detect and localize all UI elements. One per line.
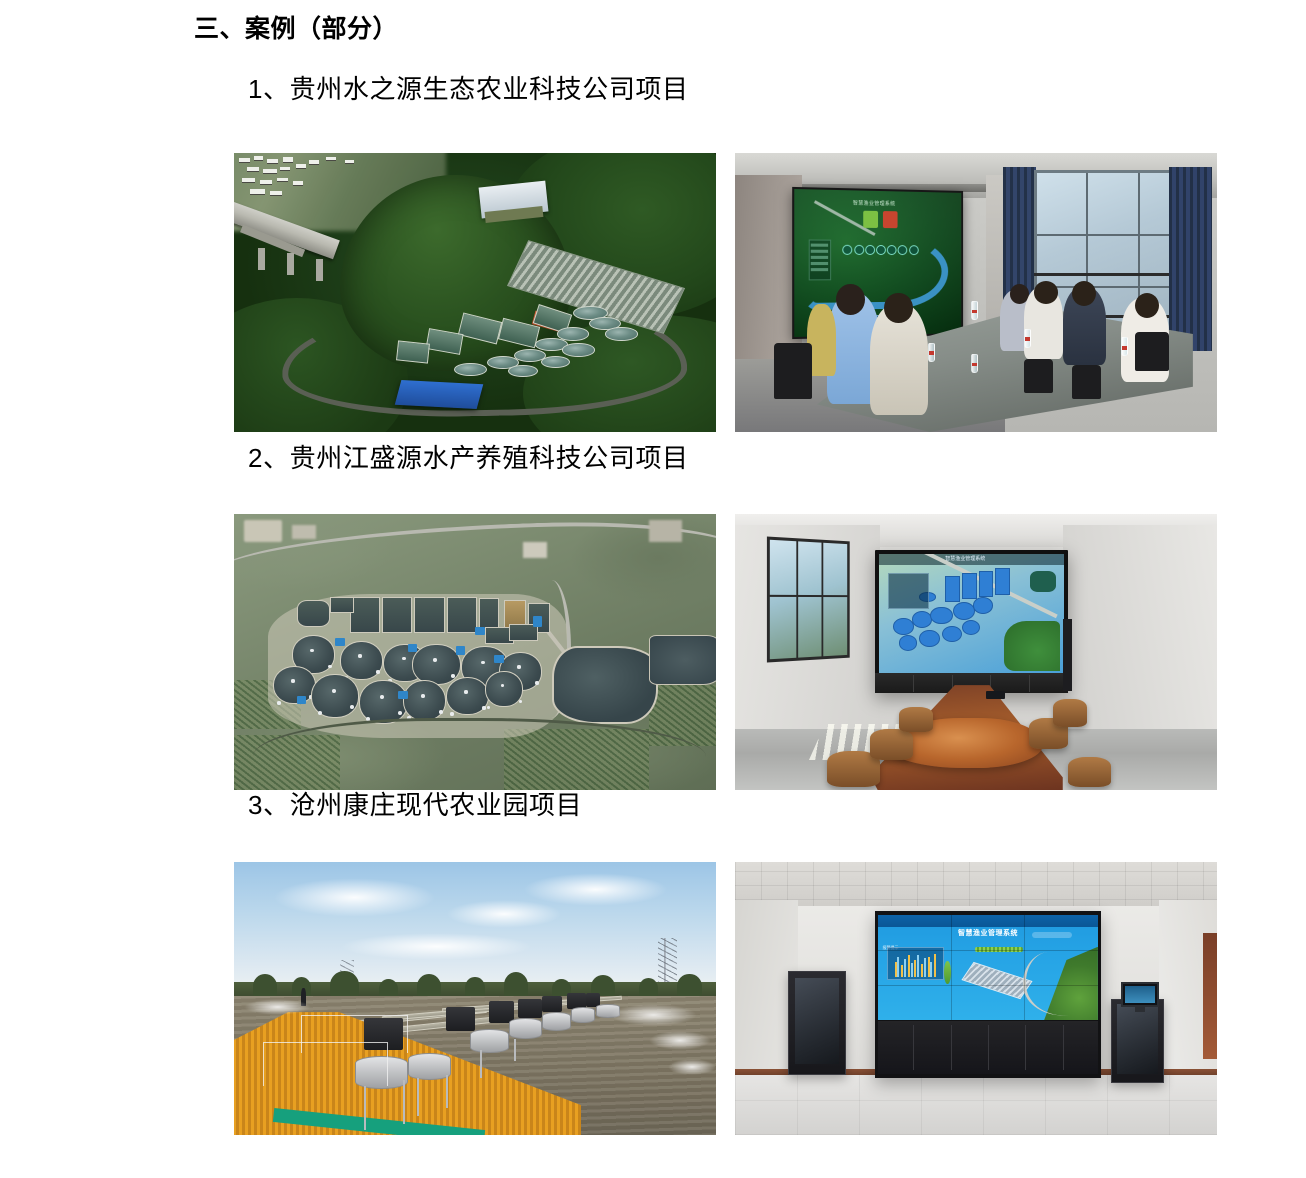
person-head xyxy=(1135,293,1159,318)
push-water-aerator xyxy=(470,1029,509,1054)
tree-stump-stool xyxy=(899,707,933,732)
aerator-control-box xyxy=(518,999,542,1018)
floor-tiles xyxy=(735,1075,1217,1135)
push-water-aerator xyxy=(509,1018,543,1040)
push-water-aerator xyxy=(542,1012,571,1031)
blue-roof-shed xyxy=(395,380,483,409)
case-3-photo-control-room-video-wall: 智慧渔业管理系统 报警提示 xyxy=(735,862,1217,1135)
video-wall-screen: 智慧渔业管理系统 报警提示 xyxy=(878,915,1098,1020)
case-heading-1: 1、贵州水之源生态农业科技公司项目 xyxy=(248,74,689,105)
person-head xyxy=(1034,281,1058,303)
server-rack-left xyxy=(788,971,846,1075)
screen-title-text: 智慧渔业管理系统 xyxy=(945,555,985,562)
video-wall-frame: 智慧渔业管理系统 报警提示 xyxy=(875,911,1102,1078)
operator-monitor xyxy=(1121,982,1160,1007)
case-heading-3: 3、沧州康庄现代农业园项目 xyxy=(248,790,582,821)
speaker-stand xyxy=(1063,619,1073,691)
tree-stump-stool xyxy=(870,729,913,759)
push-water-aerator xyxy=(408,1053,451,1080)
aerator-control-box xyxy=(446,1007,475,1032)
case-3-photo-pond-platform-aerators xyxy=(234,862,716,1135)
monitor-stand xyxy=(1135,1007,1145,1012)
aerator-control-box xyxy=(542,996,561,1012)
tree-stump-stool xyxy=(1068,757,1111,787)
case-heading-2: 2、贵州江盛源水产养殖科技公司项目 xyxy=(248,443,689,474)
person-head xyxy=(836,284,865,315)
remote-control xyxy=(986,691,1005,699)
reservoir-pond xyxy=(552,646,658,723)
video-wall-frame: 智慧渔业管理系统 xyxy=(875,550,1068,694)
case-1-photo-aerial-valley-fish-farm xyxy=(234,153,716,432)
power-pylon xyxy=(658,938,677,987)
window xyxy=(767,536,849,663)
push-water-aerator xyxy=(571,1007,595,1023)
door-frame xyxy=(1203,933,1217,1059)
tree-stump-stool xyxy=(1053,699,1087,727)
document-page: 三、案例（部分） 1、贵州水之源生态农业科技公司项目 xyxy=(0,0,1306,1178)
video-wall-screen: 智慧渔业管理系统 xyxy=(879,554,1064,673)
case-2-photo-exhibition-room-wood-table: 智慧渔业管理系统 xyxy=(735,514,1217,790)
section-heading: 三、案例（部分） xyxy=(194,14,398,44)
village-houses xyxy=(234,153,398,214)
screen-title-text: 智慧渔业管理系统 xyxy=(853,199,896,207)
case-2-photo-aerial-top-down-ponds xyxy=(234,514,716,790)
case-1-photo-meeting-room-video-wall: 智慧渔业管理系统 xyxy=(735,153,1217,432)
